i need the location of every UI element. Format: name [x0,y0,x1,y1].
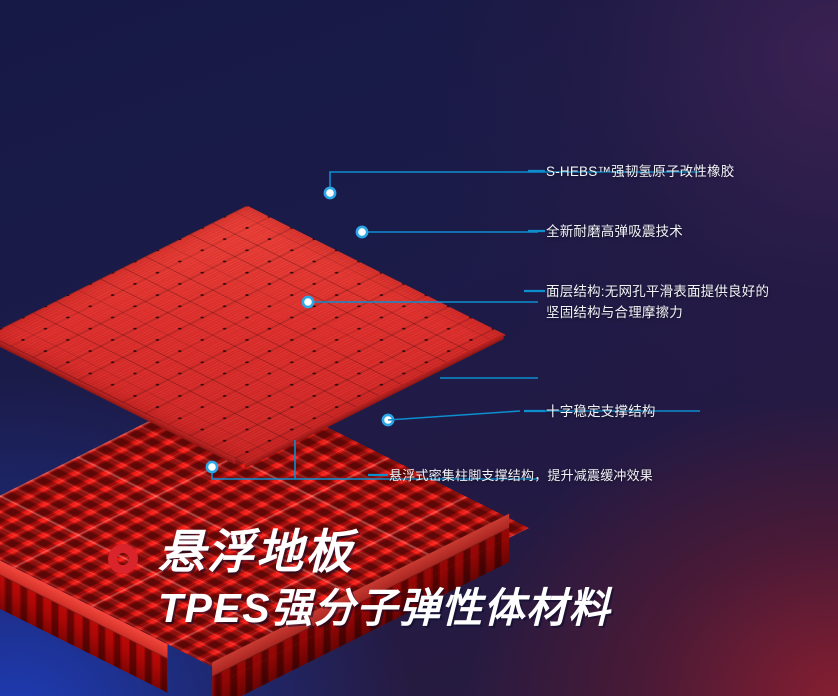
poster-canvas: S-HEBS™强韧氢原子改性橡胶 全新耐磨高弹吸震技术 面层结构:无网孔平滑表面… [0,0,838,696]
callout-line-4b [388,411,520,420]
callout-dot-3 [302,296,315,309]
page-title: 悬浮地板 [158,524,611,580]
callout-dot-2 [356,226,369,239]
annotation-label-4: 十字稳定支撑结构 [546,401,656,422]
callout-dots [206,187,395,474]
annotation-label-1: S-HEBS™强韧氢原子改性橡胶 [546,161,734,182]
footer-title-block: 悬浮地板 TPES强分子弹性体材料 [108,524,611,634]
callout-dot-5 [206,461,219,474]
callout-dot-1 [324,187,337,200]
annotation-label-2: 全新耐磨高弹吸震技术 [546,221,683,242]
footer-titles: 悬浮地板 TPES强分子弹性体材料 [158,524,611,634]
page-subtitle: TPES强分子弹性体材料 [158,582,611,634]
annotation-label-3: 面层结构:无网孔平滑表面提供良好的 坚固结构与合理摩擦力 [546,281,836,323]
callout-ticks [368,171,545,475]
ring-icon [108,544,138,574]
annotation-label-5: 悬浮式密集柱脚支撑结构，提升减震缓冲效果 [389,465,653,486]
